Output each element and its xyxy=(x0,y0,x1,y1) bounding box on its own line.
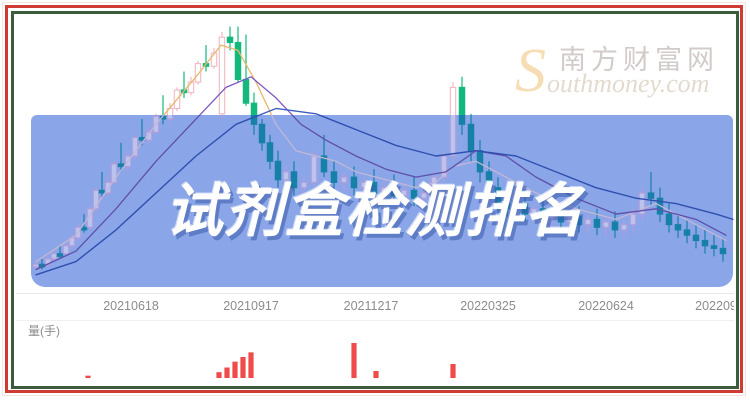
x-axis-tick: 20220624 xyxy=(578,299,634,313)
x-axis-tick: 20210917 xyxy=(223,299,279,313)
screenshot-root: 试剂盒检测排名 S 南方财富网 outhmoney.com 2021061820… xyxy=(0,0,750,400)
x-axis-tick: 20220325 xyxy=(460,299,516,313)
x-axis-tick: 20211217 xyxy=(344,299,399,313)
x-axis-tick: 202209 xyxy=(695,299,734,313)
x-axis-tick: 20210618 xyxy=(103,299,159,313)
x-axis: 2021061820210917202112172022032520220624… xyxy=(16,293,734,321)
volume-panel: 量(手) xyxy=(16,320,734,384)
candlestick-canvas-overlay xyxy=(16,16,734,296)
candlestick-plot-area xyxy=(16,16,734,296)
volume-canvas xyxy=(16,320,734,384)
stock-chart: 试剂盒检测排名 S 南方财富网 outhmoney.com 2021061820… xyxy=(16,16,734,384)
